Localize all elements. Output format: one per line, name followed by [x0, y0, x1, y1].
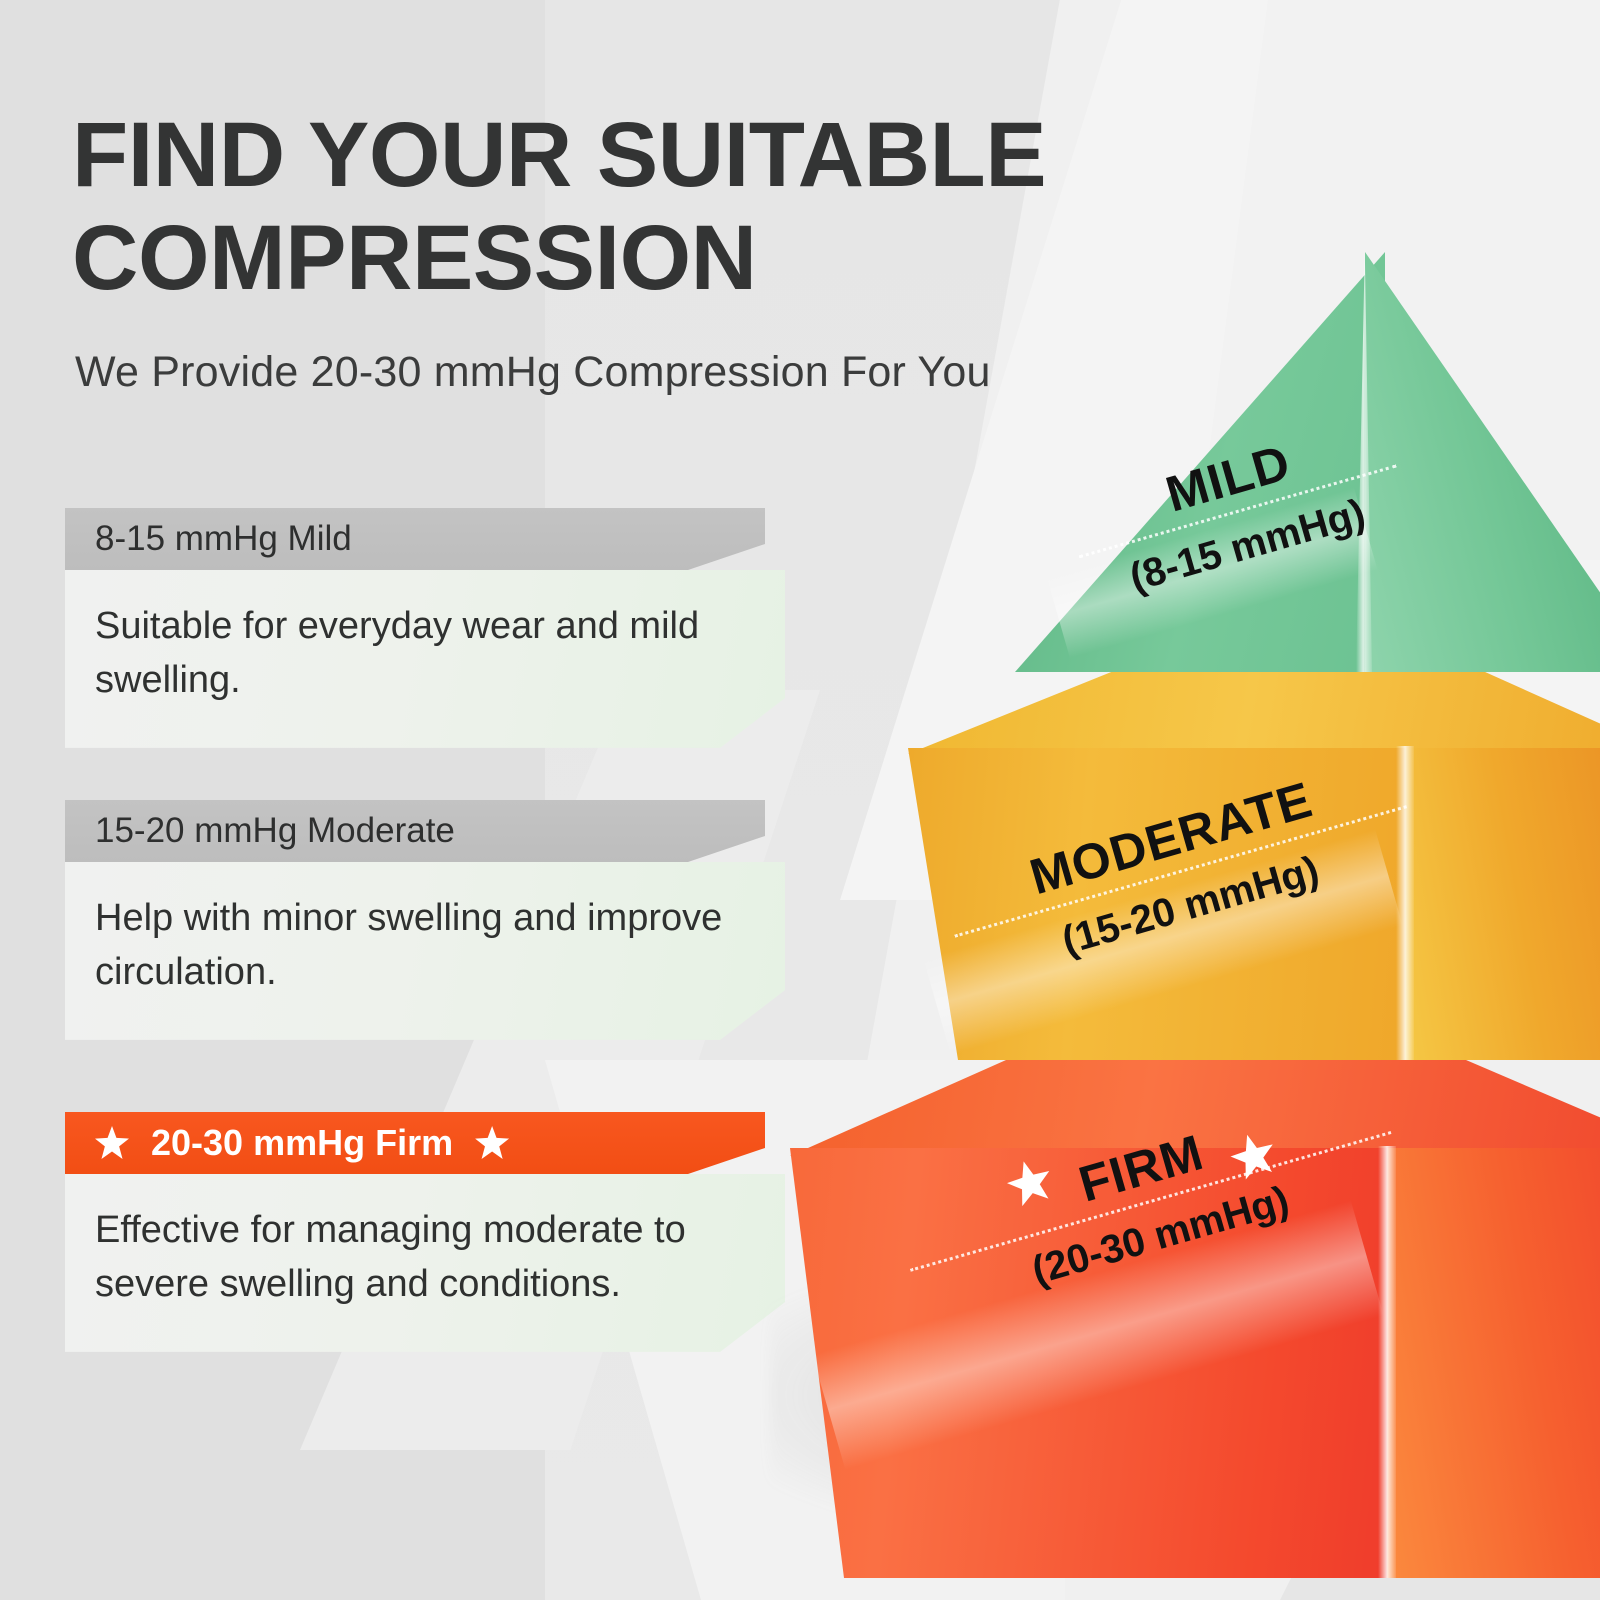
card-header-mild: 8-15 mmHg Mild: [65, 508, 765, 570]
card-body-firm: Effective for managing moderate to sever…: [65, 1174, 785, 1352]
card-body-mild: Suitable for everyday wear and mild swel…: [65, 570, 785, 748]
card-body-text: Suitable for everyday wear and mild swel…: [95, 600, 755, 708]
card-body-text: Effective for managing moderate to sever…: [95, 1204, 755, 1312]
compression-pyramid: MILD (8-15 mmHg) MODERATE (15-20 mmHg) F…: [760, 230, 1600, 1570]
moderate-top-face: [908, 662, 1600, 754]
card-body-text: Help with minor swelling and improve cir…: [95, 892, 755, 1000]
star-icon-right: [475, 1126, 509, 1160]
card-header-firm: 20-30 mmHg Firm: [65, 1112, 765, 1174]
card-header-label: 15-20 mmHg Moderate: [65, 811, 455, 851]
moderate-right-face: [1405, 748, 1600, 1060]
card-header-label-group: 20-30 mmHg Firm: [65, 1122, 509, 1164]
firm-edge-highlight: [1378, 1146, 1396, 1578]
mild-right-face: [1365, 252, 1600, 672]
compression-card-moderate: 15-20 mmHg Moderate Help with minor swel…: [65, 800, 785, 1040]
star-icon-left: [95, 1126, 129, 1160]
infographic-canvas: FIND YOUR SUITABLE COMPRESSION We Provid…: [0, 0, 1600, 1600]
compression-card-firm: 20-30 mmHg Firm Effective for managing m…: [65, 1112, 785, 1352]
card-header-label: 8-15 mmHg Mild: [65, 519, 352, 559]
firm-right-face: [1387, 1148, 1600, 1578]
card-body-moderate: Help with minor swelling and improve cir…: [65, 862, 785, 1040]
card-header-label: 20-30 mmHg Firm: [151, 1122, 453, 1164]
compression-card-mild: 8-15 mmHg Mild Suitable for everyday wea…: [65, 508, 785, 748]
card-header-moderate: 15-20 mmHg Moderate: [65, 800, 765, 862]
